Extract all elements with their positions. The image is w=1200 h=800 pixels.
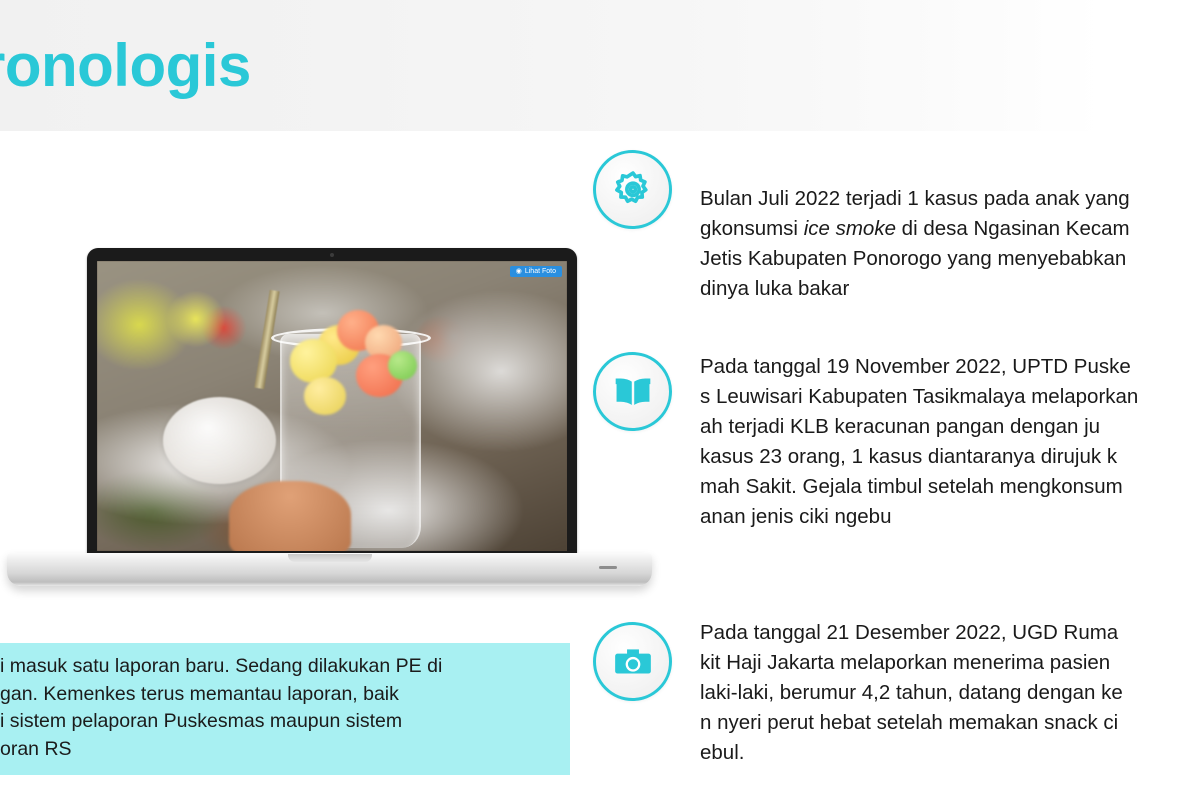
bullet-3-body: Pada tanggal 21 Desember 2022, UGD Ruma … [700,621,1123,764]
snack-ball [388,351,416,380]
photo-icon: ◉ [516,268,522,275]
bullet-3-trailing: . [700,786,1200,800]
laptop-mockup: ◉ Lihat Foto [7,248,652,593]
laptop-notch [288,554,372,562]
bullet-icon-1[interactable] [593,150,672,229]
camera-icon [612,641,654,683]
bullet-text-2: Pada tanggal 19 November 2022, UPTD Pusk… [700,352,1200,532]
bullet-text-3: Pada tanggal 21 Desember 2022, UGD Ruma … [700,588,1200,800]
book-icon [612,371,654,413]
laptop-port [599,566,617,569]
bullet-icon-3[interactable] [593,622,672,701]
bullet-1-emphasis: ice smoke [804,217,896,240]
view-photo-badge[interactable]: ◉ Lihat Foto [510,266,562,277]
cup-lid-shape [163,397,276,484]
snack-ball [304,377,346,415]
bullet-icon-2[interactable] [593,352,672,431]
view-photo-label: Lihat Foto [525,268,556,275]
laptop-lid: ◉ Lihat Foto [87,248,577,560]
hand-shape [229,481,351,551]
laptop-base [7,553,652,586]
laptop-screen: ◉ Lihat Foto [97,261,567,551]
presentation-slide: ronologis ◉ Lihat Foto [0,0,1200,800]
gear-icon [612,169,654,211]
snack-ball [290,339,337,383]
page-title: ronologis [0,36,251,96]
callout-box: i masuk satu laporan baru. Sedang dilaku… [0,643,570,775]
bullet-text-1: Bulan Juli 2022 terjadi 1 kasus pada ana… [700,154,1200,304]
callout-text: i masuk satu laporan baru. Sedang dilaku… [0,653,556,764]
